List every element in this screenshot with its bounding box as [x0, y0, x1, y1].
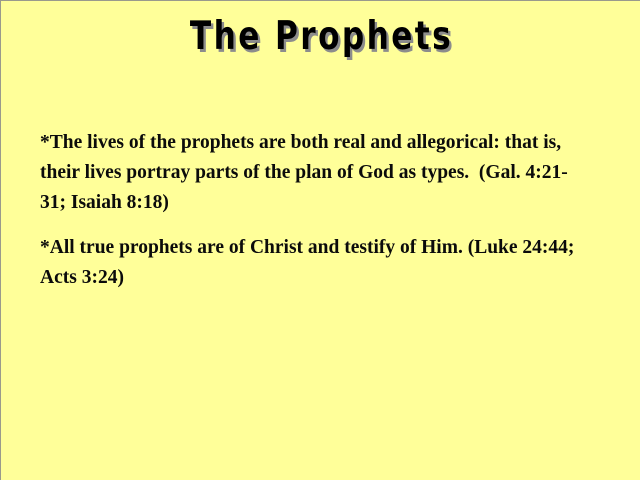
presentation-slide: The Prophets *The lives of the prophets … — [0, 0, 640, 480]
body-paragraph: *The lives of the prophets are both real… — [40, 128, 585, 218]
slide-body: *The lives of the prophets are both real… — [40, 128, 585, 293]
slide-title-container: The Prophets — [1, 15, 640, 59]
page-title: The Prophets — [189, 15, 452, 59]
body-paragraph: *All true prophets are of Christ and tes… — [40, 233, 585, 293]
